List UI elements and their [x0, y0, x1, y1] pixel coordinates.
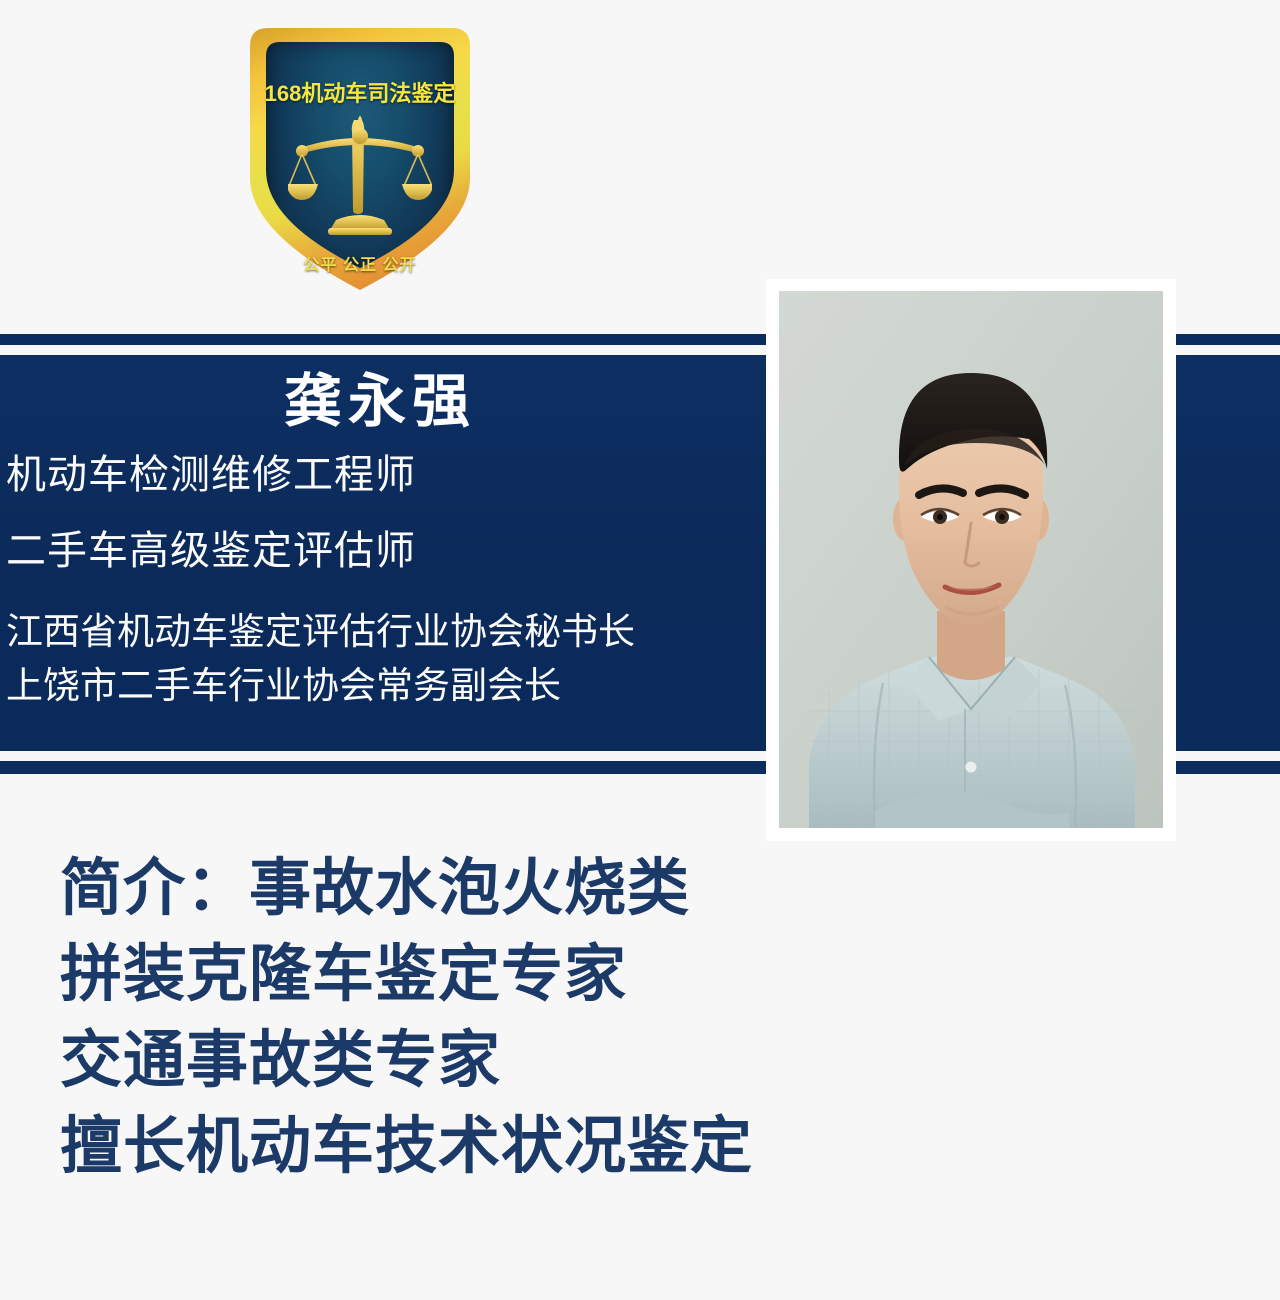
company-logo: 168机动车司法鉴定	[250, 28, 470, 290]
intro-text-block: 简介：事故水泡火烧类 拼装克隆车鉴定专家 交通事故类专家 擅长机动车技术状况鉴定	[60, 858, 1220, 1178]
intro-line: 擅长机动车技术状况鉴定	[60, 1116, 1220, 1178]
logo-title: 168机动车司法鉴定	[250, 76, 470, 108]
credential-item: 江西省机动车鉴定评估行业协会秘书长	[6, 613, 776, 650]
person-name: 龚永强	[0, 372, 760, 433]
portrait-illustration	[779, 291, 1163, 828]
intro-line: 交通事故类专家	[60, 1030, 1220, 1092]
credential-item: 二手车高级鉴定评估师	[6, 531, 776, 571]
credential-item: 上饶市二手车行业协会常务副会长	[6, 667, 776, 704]
credential-item: 机动车检测维修工程师	[6, 455, 776, 495]
intro-line: 简介：事故水泡火烧类	[60, 858, 1220, 920]
intro-line: 拼装克隆车鉴定专家	[60, 944, 1220, 1006]
portrait-photo	[779, 291, 1163, 828]
balance-scales-icon	[288, 112, 432, 244]
profile-poster: 168机动车司法鉴定	[0, 0, 1280, 1300]
credentials-list: 机动车检测维修工程师 二手车高级鉴定评估师 江西省机动车鉴定评估行业协会秘书长 …	[6, 455, 776, 704]
logo-motto: 公平 公正 公开	[250, 251, 470, 275]
